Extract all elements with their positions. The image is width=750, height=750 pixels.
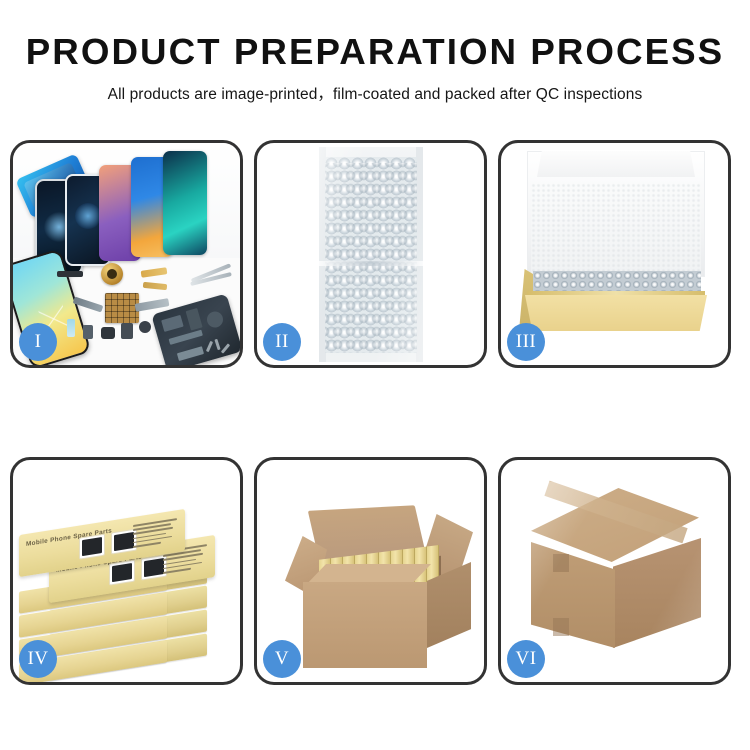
phone-screen-icon <box>163 151 207 255</box>
step-panel-5: V <box>254 457 487 685</box>
speaker-part-icon <box>57 271 83 277</box>
page-title: PRODUCT PREPARATION PROCESS <box>0 34 750 70</box>
box-phone-image <box>79 534 105 560</box>
phone-screen-fan <box>65 151 235 271</box>
process-steps-grid: I II III <box>10 140 740 685</box>
flex-cable-icon <box>135 298 170 312</box>
step-badge-4: IV <box>19 640 57 678</box>
small-part-icon <box>121 323 133 339</box>
step-panel-2: II <box>254 140 487 368</box>
step-badge-3: III <box>507 323 545 361</box>
step-badge-2: II <box>263 323 301 361</box>
flex-cable-icon <box>143 282 167 290</box>
small-part-icon <box>101 327 115 339</box>
screws-icon <box>206 337 232 359</box>
step-panel-4: Mobile Phone Spare Parts Mobile Phone Sp… <box>10 457 243 685</box>
kraft-box-front-icon <box>525 295 707 331</box>
small-part-icon <box>139 321 151 333</box>
chip-grid-icon <box>105 293 139 323</box>
small-part-icon <box>67 319 75 337</box>
page-subtitle: All products are image-printed，film-coat… <box>0 82 750 104</box>
foam-sheet-icon <box>531 183 701 275</box>
product-preparation-infographic: PRODUCT PREPARATION PROCESS All products… <box>0 0 750 750</box>
step-badge-6: VI <box>507 640 545 678</box>
small-part-icon <box>83 325 93 339</box>
box-phone-image <box>109 560 135 586</box>
step-panel-1: I <box>10 140 243 368</box>
tweezers-icon <box>190 261 234 291</box>
carton-front-icon <box>303 582 427 668</box>
step-panel-3: III <box>498 140 731 368</box>
coil-part-icon <box>101 263 123 285</box>
step-panel-6: VI <box>498 457 731 685</box>
header: PRODUCT PREPARATION PROCESS All products… <box>0 0 750 104</box>
step-badge-5: V <box>263 640 301 678</box>
box-spec-lines <box>133 518 177 550</box>
step-badge-1: I <box>19 323 57 361</box>
